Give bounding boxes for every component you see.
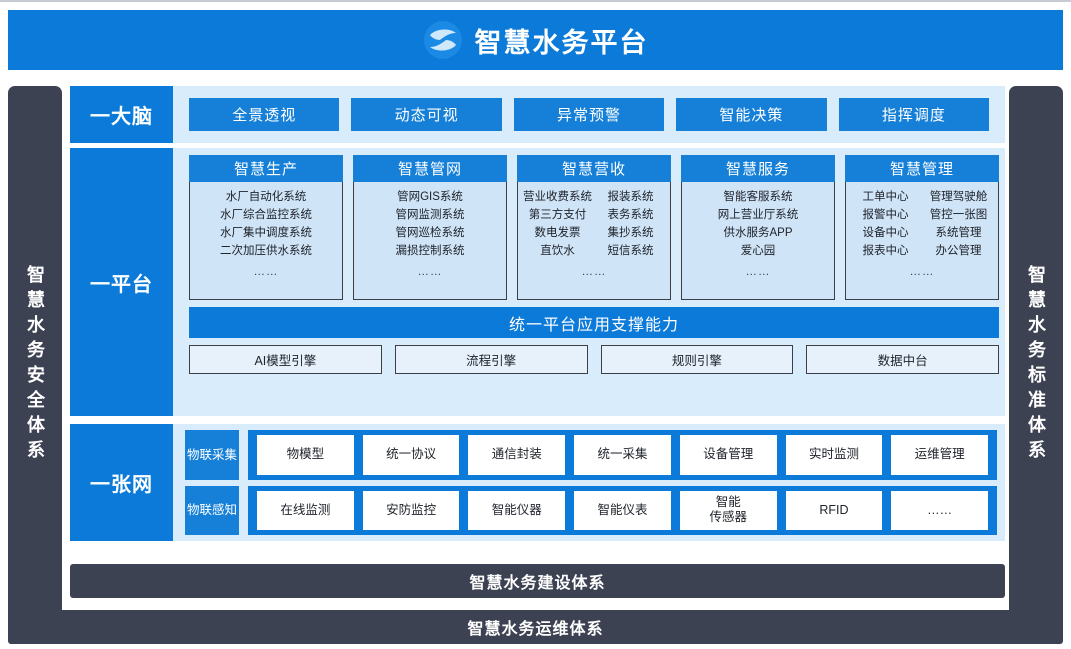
card-item: 二次加压供水系统 — [220, 242, 312, 260]
card-ellipsis-2: …… — [582, 266, 607, 278]
network-chip[interactable]: RFID — [786, 491, 883, 531]
card-item: 管网监测系统 — [396, 206, 465, 224]
card-ellipsis-0: …… — [254, 266, 279, 278]
card-item: 爱心园 — [741, 242, 776, 260]
card-title-0: 智慧生产 — [189, 155, 343, 182]
card-item: 表务系统 — [608, 206, 654, 224]
card-item: 网上营业厅系统 — [718, 206, 799, 224]
platform-card-smart-management[interactable]: 智慧管理 工单中心 报警中心 设备中心 报表中心 管理驾驶舱 — [845, 155, 999, 300]
network-chip[interactable]: 实时监测 — [786, 435, 883, 475]
network-chip[interactable]: 统一协议 — [363, 435, 460, 475]
left-side-panel-label: 智慧水务安全体系 — [26, 265, 44, 465]
card-item: 管理驾驶舱 — [930, 188, 988, 206]
platform-body: 智慧生产 水厂自动化系统 水厂综合监控系统 水厂集中调度系统 二次加压供水系统 — [173, 148, 1005, 416]
network-chip[interactable]: 在线监测 — [257, 491, 354, 531]
card-item: 报警中心 — [863, 206, 909, 224]
left-side-panel-security-system: 智慧水务安全体系 — [8, 86, 62, 644]
card-columns-0: 水厂自动化系统 水厂综合监控系统 水厂集中调度系统 二次加压供水系统 — [193, 188, 339, 260]
card-body-3: 智能客服系统 网上营业厅系统 供水服务APP 爱心园 …… — [681, 182, 835, 300]
section-label-one-brain: 一大脑 — [70, 86, 173, 143]
network-chip[interactable]: 通信封装 — [468, 435, 565, 475]
card-item: 报装系统 — [608, 188, 654, 206]
platform-card-row: 智慧生产 水厂自动化系统 水厂综合监控系统 水厂集中调度系统 二次加压供水系统 — [189, 155, 999, 300]
network-chip[interactable]: 智能传感器 — [680, 491, 777, 531]
engine-box-1[interactable]: 流程引擎 — [395, 345, 588, 374]
card-item: 水厂自动化系统 — [226, 188, 307, 206]
card-item: 第三方支付 — [529, 206, 587, 224]
card-item: 管控一张图 — [930, 206, 988, 224]
section-label-one-platform: 一平台 — [70, 148, 173, 416]
platform-card-smart-production[interactable]: 智慧生产 水厂自动化系统 水厂综合监控系统 水厂集中调度系统 二次加压供水系统 — [189, 155, 343, 300]
bottom-bar-operation-system: 智慧水务运维体系 — [8, 610, 1063, 644]
card-column-2-0: 营业收费系统 第三方支付 数电发票 直饮水 — [521, 188, 594, 260]
page-title: 智慧水务平台 — [475, 21, 649, 60]
network-chip-group-0: 物模型 统一协议 通信封装 统一采集 设备管理 实时监测 运维管理 — [248, 430, 997, 480]
card-item: 营业收费系统 — [523, 188, 592, 206]
card-item: 设备中心 — [863, 224, 909, 242]
network-body: 物联采集 物模型 统一协议 通信封装 统一采集 设备管理 实时监测 运维管理 物… — [173, 424, 1005, 541]
network-tag-0: 物联采集 — [185, 430, 239, 480]
card-item: 智能客服系统 — [724, 188, 793, 206]
card-title-4: 智慧管理 — [845, 155, 999, 182]
card-item: 直饮水 — [540, 242, 575, 260]
engine-row: AI模型引擎 流程引擎 规则引擎 数据中台 — [189, 345, 999, 374]
network-chip[interactable]: 统一采集 — [574, 435, 671, 475]
card-item: 短信系统 — [608, 242, 654, 260]
unified-platform-support-band: 统一平台应用支撑能力 — [189, 307, 999, 338]
brain-button-4[interactable]: 指挥调度 — [839, 98, 989, 131]
card-columns-2: 营业收费系统 第三方支付 数电发票 直饮水 报装系统 表务系统 集抄系统 短信系 — [521, 188, 667, 260]
network-chip[interactable]: 智能仪表 — [574, 491, 671, 531]
card-item: 系统管理 — [936, 224, 982, 242]
card-item: 水厂综合监控系统 — [220, 206, 312, 224]
bottom-bar-construction-system: 智慧水务建设体系 — [70, 564, 1005, 598]
card-columns-1: 管网GIS系统 管网监测系统 管网巡检系统 漏损控制系统 — [357, 188, 503, 260]
card-column-1-0: 管网GIS系统 管网监测系统 管网巡检系统 漏损控制系统 — [357, 188, 503, 260]
smart-water-platform-architecture-diagram: 智慧水务平台 智慧水务安全体系 智慧水务标准体系 一大脑 全景透视 动态可视 异… — [0, 0, 1071, 649]
card-body-0: 水厂自动化系统 水厂综合监控系统 水厂集中调度系统 二次加压供水系统 …… — [189, 182, 343, 300]
network-row-iot-collection: 物联采集 物模型 统一协议 通信封装 统一采集 设备管理 实时监测 运维管理 — [185, 430, 997, 480]
engine-box-2[interactable]: 规则引擎 — [601, 345, 794, 374]
platform-card-smart-service[interactable]: 智慧服务 智能客服系统 网上营业厅系统 供水服务APP 爱心园 …… — [681, 155, 835, 300]
platform-card-smart-revenue[interactable]: 智慧营收 营业收费系统 第三方支付 数电发票 直饮水 报装系统 — [517, 155, 671, 300]
card-column-2-1: 报装系统 表务系统 集抄系统 短信系统 — [594, 188, 667, 260]
card-column-4-1: 管理驾驶舱 管控一张图 系统管理 办公管理 — [922, 188, 995, 260]
card-ellipsis-1: …… — [418, 266, 443, 278]
one-brain-button-group: 全景透视 动态可视 异常预警 智能决策 指挥调度 — [173, 86, 1005, 143]
card-columns-3: 智能客服系统 网上营业厅系统 供水服务APP 爱心园 — [685, 188, 831, 260]
section-one-network: 一张网 物联采集 物模型 统一协议 通信封装 统一采集 设备管理 实时监测 运维… — [70, 424, 1005, 541]
card-item: 数电发票 — [535, 224, 581, 242]
card-ellipsis-4: …… — [910, 266, 935, 278]
network-tag-1: 物联感知 — [185, 486, 239, 536]
engine-box-0[interactable]: AI模型引擎 — [189, 345, 382, 374]
card-item: 水厂集中调度系统 — [220, 224, 312, 242]
network-chip[interactable]: …… — [891, 491, 988, 531]
network-chip[interactable]: 安防监控 — [363, 491, 460, 531]
right-side-panel-label: 智慧水务标准体系 — [1027, 265, 1045, 465]
right-side-panel-standard-system: 智慧水务标准体系 — [1009, 86, 1063, 644]
network-chip[interactable]: 设备管理 — [680, 435, 777, 475]
card-ellipsis-3: …… — [746, 266, 771, 278]
page-header: 智慧水务平台 — [8, 10, 1063, 70]
section-one-brain: 一大脑 全景透视 动态可视 异常预警 智能决策 指挥调度 — [70, 86, 1005, 143]
network-row-iot-sensing: 物联感知 在线监测 安防监控 智能仪器 智能仪表 智能传感器 RFID …… — [185, 486, 997, 536]
card-item: 供水服务APP — [723, 224, 792, 242]
engine-box-3[interactable]: 数据中台 — [806, 345, 999, 374]
card-item: 管网GIS系统 — [397, 188, 463, 206]
card-body-1: 管网GIS系统 管网监测系统 管网巡检系统 漏损控制系统 …… — [353, 182, 507, 300]
card-body-2: 营业收费系统 第三方支付 数电发票 直饮水 报装系统 表务系统 集抄系统 短信系 — [517, 182, 671, 300]
network-chip[interactable]: 物模型 — [257, 435, 354, 475]
network-chip-group-1: 在线监测 安防监控 智能仪器 智能仪表 智能传感器 RFID …… — [248, 486, 997, 536]
card-item: 漏损控制系统 — [396, 242, 465, 260]
network-chip[interactable]: 运维管理 — [891, 435, 988, 475]
card-item: 报表中心 — [863, 242, 909, 260]
architecture-main-stack: 一大脑 全景透视 动态可视 异常预警 智能决策 指挥调度 一平台 智慧生产 — [70, 86, 1005, 644]
brain-button-0[interactable]: 全景透视 — [189, 98, 339, 131]
platform-card-smart-pipe-network[interactable]: 智慧管网 管网GIS系统 管网监测系统 管网巡检系统 漏损控制系统 …… — [353, 155, 507, 300]
card-title-1: 智慧管网 — [353, 155, 507, 182]
section-label-one-network: 一张网 — [70, 424, 173, 541]
card-title-2: 智慧营收 — [517, 155, 671, 182]
network-chip[interactable]: 智能仪器 — [468, 491, 565, 531]
section-one-platform: 一平台 智慧生产 水厂自动化系统 水厂综合监控系统 水厂集中调度系统 — [70, 148, 1005, 416]
card-column-4-0: 工单中心 报警中心 设备中心 报表中心 — [849, 188, 922, 260]
card-item: 工单中心 — [863, 188, 909, 206]
card-item: 集抄系统 — [608, 224, 654, 242]
card-column-3-0: 智能客服系统 网上营业厅系统 供水服务APP 爱心园 — [685, 188, 831, 260]
card-item: 办公管理 — [936, 242, 982, 260]
brain-button-3[interactable]: 智能决策 — [676, 98, 826, 131]
card-item: 管网巡检系统 — [396, 224, 465, 242]
brain-button-2[interactable]: 异常预警 — [514, 98, 664, 131]
brain-button-1[interactable]: 动态可视 — [351, 98, 501, 131]
water-wave-logo-icon — [423, 20, 463, 60]
card-column-0-0: 水厂自动化系统 水厂综合监控系统 水厂集中调度系统 二次加压供水系统 — [193, 188, 339, 260]
card-columns-4: 工单中心 报警中心 设备中心 报表中心 管理驾驶舱 管控一张图 系统管理 办公管 — [849, 188, 995, 260]
card-title-3: 智慧服务 — [681, 155, 835, 182]
card-body-4: 工单中心 报警中心 设备中心 报表中心 管理驾驶舱 管控一张图 系统管理 办公管 — [845, 182, 999, 300]
